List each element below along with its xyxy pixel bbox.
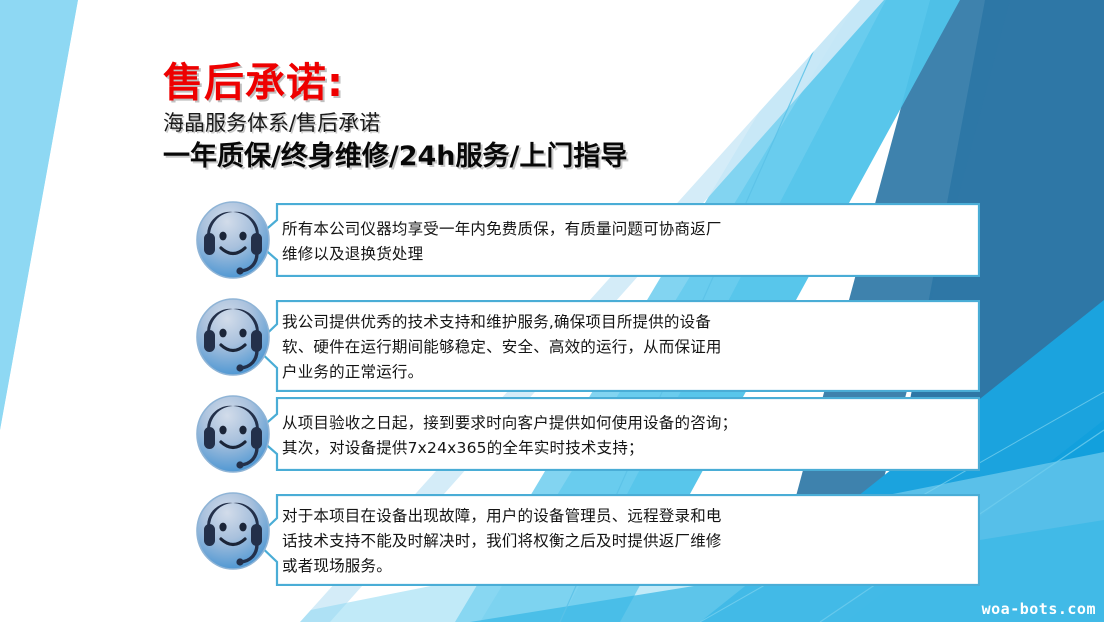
headset-earcup-left bbox=[204, 330, 215, 352]
headset-earcup-left bbox=[204, 427, 215, 449]
speech-bubble: 从项目验收之日起，接到要求时向客户提供如何使用设备的咨询； 其次，对设备提供7x… bbox=[253, 397, 980, 471]
headset-support-agent-icon bbox=[193, 392, 273, 476]
commitment-text: 所有本公司仪器均享受一年内免费质保，有质量问题可协商返厂 维修以及退换货处理 bbox=[253, 203, 980, 277]
avatar-eye-right bbox=[239, 232, 246, 241]
headset-mic-tip bbox=[236, 267, 243, 274]
headset-mic-tip bbox=[236, 461, 243, 468]
speech-bubble: 对于本项目在设备出现故障，用户的设备管理员、远程登录和电 话技术支持不能及时解决… bbox=[253, 494, 980, 586]
avatar-eye-left bbox=[219, 523, 226, 532]
slide-canvas: 售后承诺: 海晶服务体系/售后承诺 一年质保/终身维修/24h服务/上门指导 所… bbox=[0, 0, 1104, 622]
headset-earcup-left bbox=[204, 524, 215, 546]
commitment-text: 对于本项目在设备出现故障，用户的设备管理员、远程登录和电 话技术支持不能及时解决… bbox=[253, 494, 980, 589]
headset-earcup-left bbox=[204, 233, 215, 255]
headset-support-agent-icon bbox=[193, 295, 273, 379]
avatar-eye-left bbox=[219, 329, 226, 338]
headset-support-agent-icon bbox=[193, 198, 273, 282]
commitment-text: 我公司提供优秀的技术支持和维护服务,确保项目所提供的设备 软、硬件在运行期间能够… bbox=[253, 300, 980, 395]
avatar-eye-left bbox=[219, 426, 226, 435]
avatar-eye-right bbox=[239, 329, 246, 338]
headset-support-agent-icon bbox=[193, 489, 273, 573]
site-watermark: woa-bots.com bbox=[982, 600, 1096, 618]
bg-shape-right-steel bbox=[880, 0, 1104, 560]
strapline: 一年质保/终身维修/24h服务/上门指导 bbox=[163, 141, 627, 172]
speech-bubble: 所有本公司仪器均享受一年内免费质保，有质量问题可协商返厂 维修以及退换货处理 bbox=[253, 203, 980, 277]
headset-mic-tip bbox=[236, 558, 243, 565]
bg-shape-left-wedge bbox=[0, 0, 78, 430]
avatar-eye-right bbox=[239, 523, 246, 532]
speech-bubble: 我公司提供优秀的技术支持和维护服务,确保项目所提供的设备 软、硬件在运行期间能够… bbox=[253, 300, 980, 392]
headset-mic-tip bbox=[236, 364, 243, 371]
commitment-text: 从项目验收之日起，接到要求时向客户提供如何使用设备的咨询； 其次，对设备提供7x… bbox=[253, 397, 980, 471]
avatar-eye-right bbox=[239, 426, 246, 435]
breadcrumb: 海晶服务体系/售后承诺 bbox=[163, 112, 627, 135]
avatar-eye-left bbox=[219, 232, 226, 241]
page-title: 售后承诺: bbox=[163, 62, 627, 104]
bg-shape-left-wedge-restore bbox=[0, 0, 78, 430]
slide-header: 售后承诺: 海晶服务体系/售后承诺 一年质保/终身维修/24h服务/上门指导 bbox=[163, 62, 627, 172]
